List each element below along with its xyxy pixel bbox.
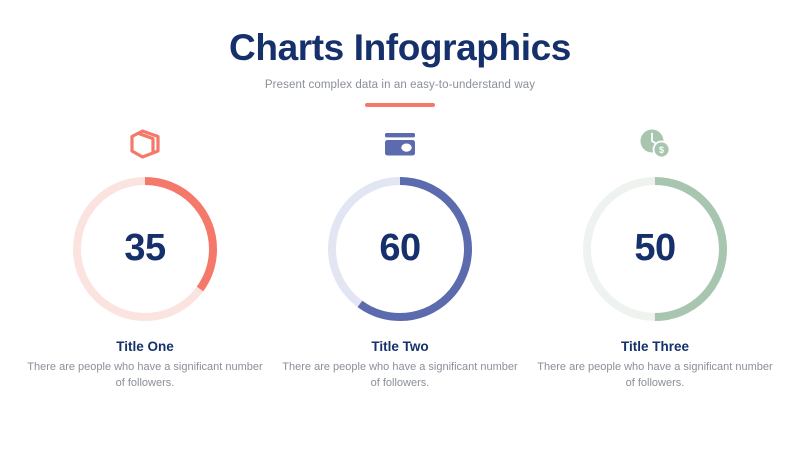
donut-value-two: 60 <box>324 173 476 325</box>
donut-chart-three: 50 <box>579 173 731 325</box>
header: Charts Infographics Present complex data… <box>0 0 800 107</box>
chart-column-two: 60 Title Two There are people who have a… <box>273 121 528 392</box>
column-description-two: There are people who have a significant … <box>280 360 520 392</box>
page-subtitle: Present complex data in an easy-to-under… <box>0 79 800 91</box>
clock-money-icon: $ <box>636 121 674 167</box>
chart-column-one: 35 Title One There are people who have a… <box>18 121 273 392</box>
title-divider <box>365 103 435 107</box>
chart-column-three: $ 50 Title Three There are people who ha… <box>528 121 783 392</box>
column-title-three: Title Three <box>621 339 689 354</box>
infographic-slide: Charts Infographics Present complex data… <box>0 0 800 450</box>
svg-text:$: $ <box>659 145 664 155</box>
column-title-two: Title Two <box>371 339 428 354</box>
column-title-one: Title One <box>116 339 174 354</box>
donut-chart-two: 60 <box>324 173 476 325</box>
column-description-one: There are people who have a significant … <box>25 360 265 392</box>
credit-card-icon <box>381 121 419 167</box>
box-package-icon <box>126 121 164 167</box>
donut-value-one: 35 <box>69 173 221 325</box>
donut-chart-one: 35 <box>69 173 221 325</box>
page-title: Charts Infographics <box>0 28 800 69</box>
donut-value-three: 50 <box>579 173 731 325</box>
chart-columns: 35 Title One There are people who have a… <box>0 121 800 392</box>
column-description-three: There are people who have a significant … <box>535 360 775 392</box>
